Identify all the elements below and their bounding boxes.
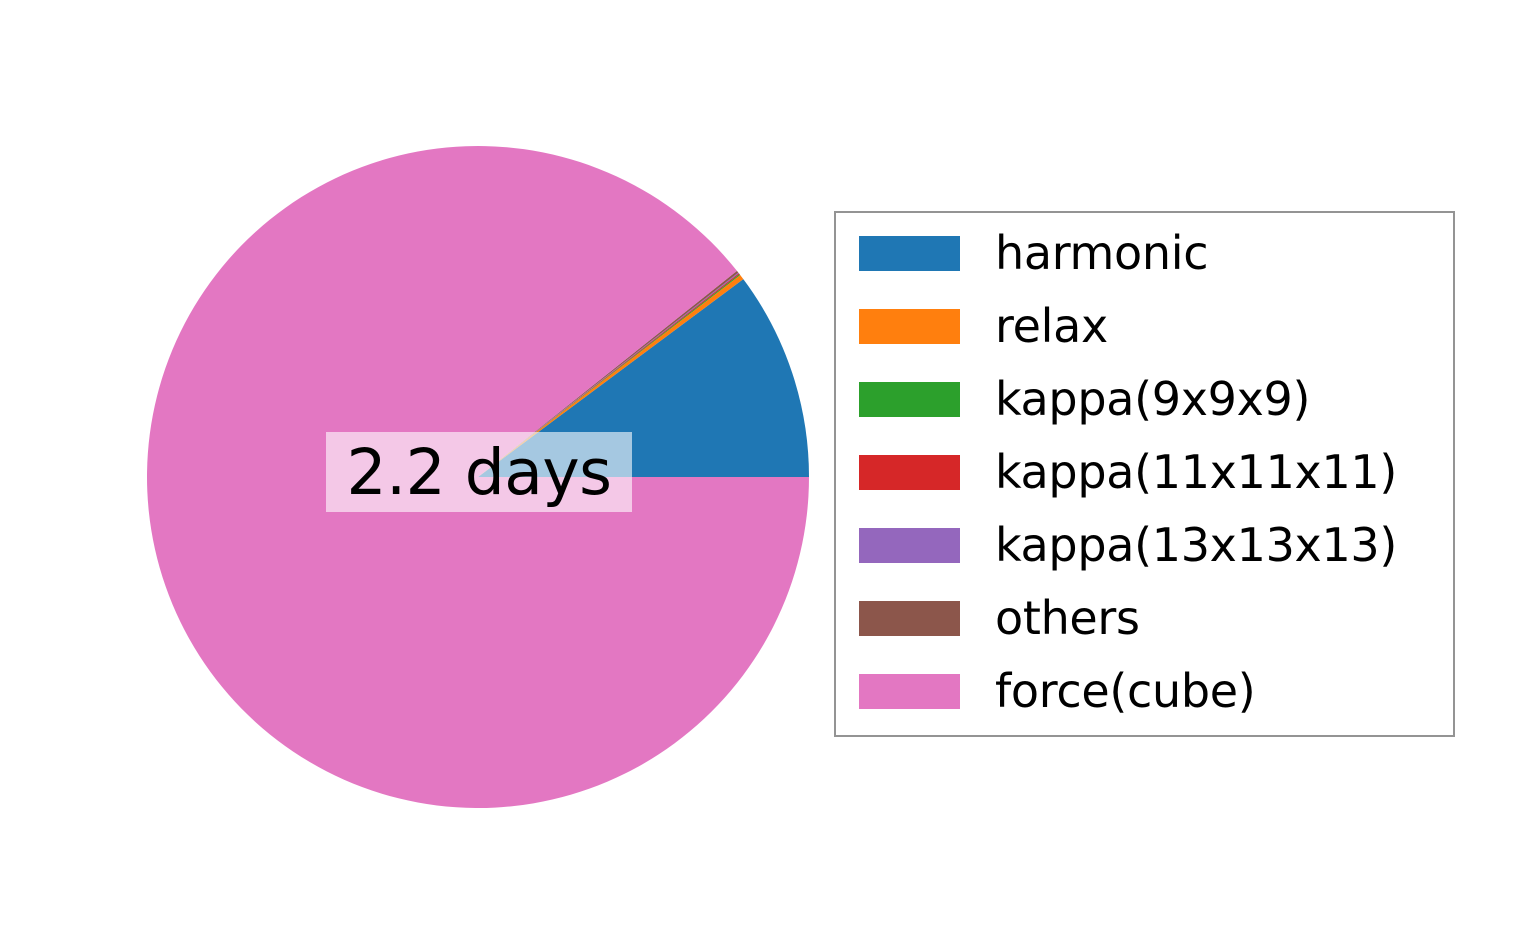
legend-item-force-cube[interactable]: force(cube): [836, 665, 1255, 717]
legend-item-kappa-13x13x13[interactable]: kappa(13x13x13): [836, 519, 1397, 571]
legend-label-others: others: [995, 595, 1140, 641]
legend-swatch-kappa-13x13x13: [859, 528, 960, 563]
legend-label-kappa-13x13x13: kappa(13x13x13): [995, 522, 1397, 568]
legend-item-relax[interactable]: relax: [836, 300, 1108, 352]
legend-swatch-kappa-9x9x9: [859, 382, 960, 417]
legend-label-force-cube: force(cube): [995, 668, 1255, 714]
legend-swatch-harmonic: [859, 236, 960, 271]
figure-canvas: 2.2 days harmonic relax kappa(9x9x9) kap…: [0, 0, 1514, 951]
legend-swatch-force-cube: [859, 674, 960, 709]
legend-label-kappa-9x9x9: kappa(9x9x9): [995, 376, 1310, 422]
legend-label-harmonic: harmonic: [995, 230, 1208, 276]
legend-item-others[interactable]: others: [836, 592, 1140, 644]
legend-label-kappa-11x11x11: kappa(11x11x11): [995, 449, 1397, 495]
legend-swatch-others: [859, 601, 960, 636]
pie-center-label: 2.2 days: [326, 432, 632, 512]
legend-item-kappa-9x9x9[interactable]: kappa(9x9x9): [836, 373, 1310, 425]
legend-swatch-kappa-11x11x11: [859, 455, 960, 490]
legend-item-kappa-11x11x11[interactable]: kappa(11x11x11): [836, 446, 1397, 498]
legend-swatch-relax: [859, 309, 960, 344]
legend-label-relax: relax: [995, 303, 1108, 349]
legend: harmonic relax kappa(9x9x9) kappa(11x11x…: [834, 211, 1455, 737]
legend-item-harmonic[interactable]: harmonic: [836, 227, 1208, 279]
